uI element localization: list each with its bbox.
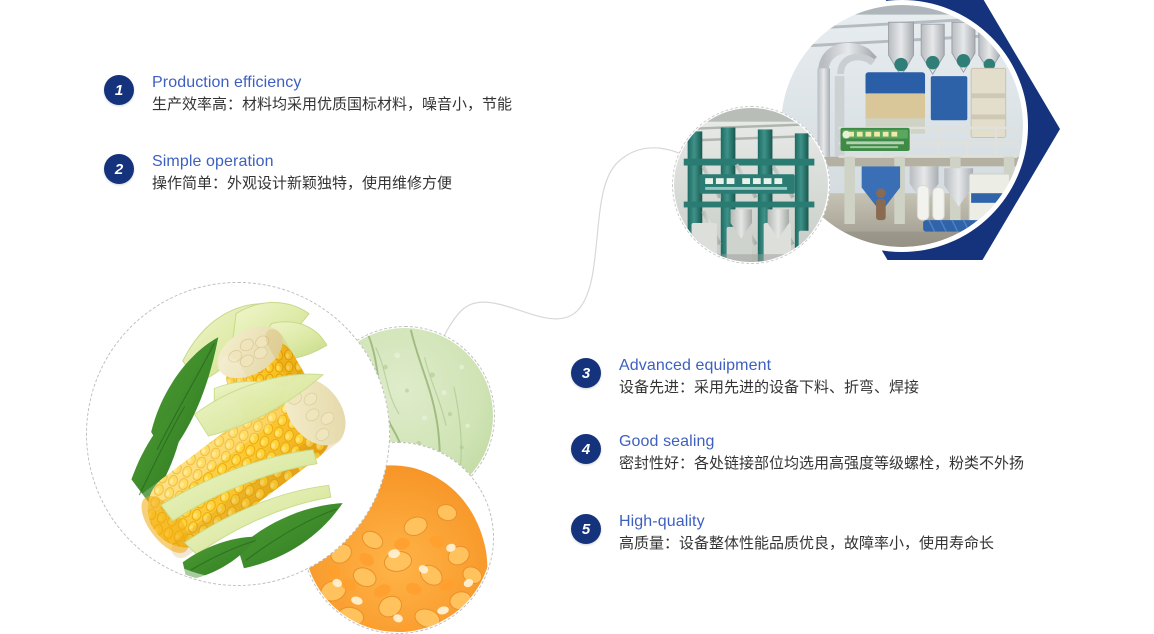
corn-products-image-group bbox=[86, 282, 496, 591]
feature-badge-2: 2 bbox=[104, 154, 134, 184]
feature-title-zh-4: 密封性好：各处链接部位均选用高强度等级螺栓，粉类不外扬 bbox=[619, 453, 1024, 475]
feature-item-4: 4 Good sealing 密封性好：各处链接部位均选用高强度等级螺栓，粉类不… bbox=[571, 432, 1024, 475]
feature-item-2: 2 Simple operation 操作简单：外观设计新颖独特，使用维修方便 bbox=[104, 152, 452, 195]
feature-text-1: Production efficiency 生产效率高：材料均采用优质国标材料，… bbox=[152, 73, 512, 116]
feature-title-zh-5: 高质量：设备整体性能品质优良，故障率小，使用寿命长 bbox=[619, 533, 994, 555]
infographic-canvas: 1 Production efficiency 生产效率高：材料均采用优质国标材… bbox=[0, 0, 1154, 591]
feature-text-2: Simple operation 操作简单：外观设计新颖独特，使用维修方便 bbox=[152, 152, 452, 195]
feature-badge-3: 3 bbox=[571, 358, 601, 388]
feature-badge-4: 4 bbox=[571, 434, 601, 464]
fresh-corn-cob-image bbox=[88, 284, 388, 584]
feature-text-5: High-quality 高质量：设备整体性能品质优良，故障率小，使用寿命长 bbox=[619, 512, 994, 555]
feature-title-zh-3: 设备先进：采用先进的设备下料、折弯、焊接 bbox=[619, 377, 919, 399]
feature-badge-1: 1 bbox=[104, 75, 134, 105]
feature-text-3: Advanced equipment 设备先进：采用先进的设备下料、折弯、焊接 bbox=[619, 356, 919, 399]
feature-title-zh-2: 操作简单：外观设计新颖独特，使用维修方便 bbox=[152, 173, 452, 195]
machinery-image-group bbox=[690, 0, 1070, 264]
feature-title-en-2: Simple operation bbox=[152, 152, 452, 171]
feature-badge-5: 5 bbox=[571, 514, 601, 544]
fresh-corn-cob-photo bbox=[86, 282, 390, 586]
feature-item-1: 1 Production efficiency 生产效率高：材料均采用优质国标材… bbox=[104, 73, 512, 116]
green-maize-processing-line-image bbox=[674, 108, 828, 262]
feature-item-3: 3 Advanced equipment 设备先进：采用先进的设备下料、折弯、焊… bbox=[571, 356, 919, 399]
feature-title-en-1: Production efficiency bbox=[152, 73, 512, 92]
feature-title-en-5: High-quality bbox=[619, 512, 994, 531]
feature-item-5: 5 High-quality 高质量：设备整体性能品质优良，故障率小，使用寿命长 bbox=[571, 512, 994, 555]
feature-title-zh-1: 生产效率高：材料均采用优质国标材料，噪音小，节能 bbox=[152, 94, 512, 116]
feature-text-4: Good sealing 密封性好：各处链接部位均选用高强度等级螺栓，粉类不外扬 bbox=[619, 432, 1024, 475]
feature-title-en-4: Good sealing bbox=[619, 432, 1024, 451]
green-maize-processing-line-photo bbox=[672, 106, 830, 264]
feature-title-en-3: Advanced equipment bbox=[619, 356, 919, 375]
